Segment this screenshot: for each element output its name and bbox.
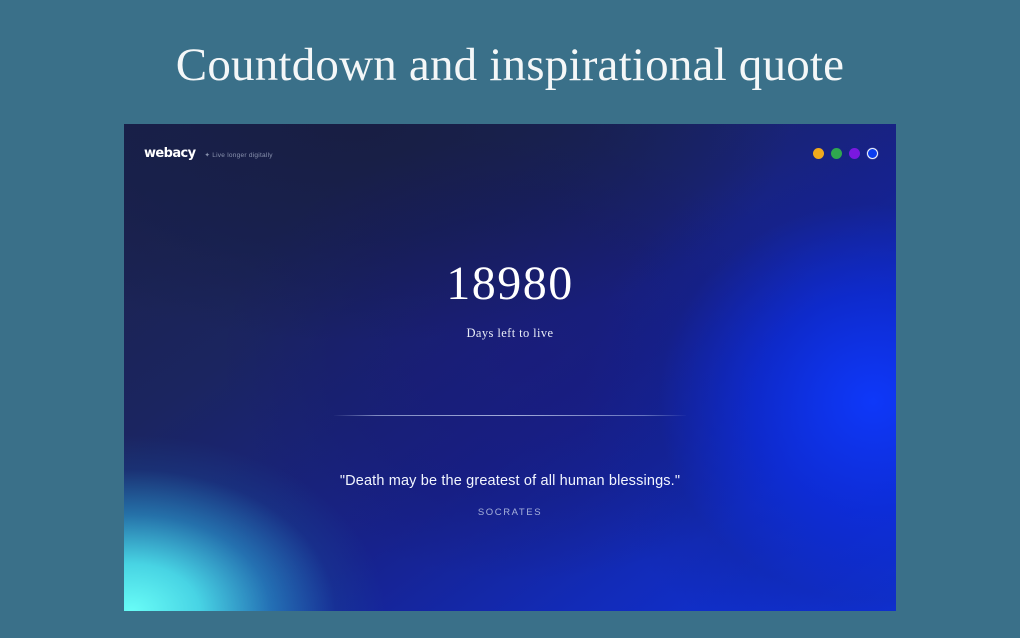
- theme-swatch-green[interactable]: [831, 148, 842, 159]
- brand-tagline: ✦ Live longer digitally: [205, 153, 273, 160]
- theme-swatch-blue[interactable]: [867, 148, 878, 159]
- page-title: Countdown and inspirational quote: [0, 38, 1020, 92]
- theme-swatch-purple[interactable]: [849, 148, 860, 159]
- countdown-content: 18980 Days left to live "Death may be th…: [124, 124, 896, 611]
- theme-swatch-group[interactable]: [813, 148, 878, 159]
- countdown-days-label: Days left to live: [467, 326, 554, 341]
- theme-swatch-amber[interactable]: [813, 148, 824, 159]
- quote-author: SOCRATES: [478, 507, 542, 518]
- brand-lockup[interactable]: webacy ✦ Live longer digitally: [144, 147, 273, 160]
- webacy-logo[interactable]: webacy: [144, 147, 196, 160]
- app-window: webacy ✦ Live longer digitally 18980 Day…: [124, 124, 896, 611]
- countdown-days-value: 18980: [446, 260, 574, 308]
- section-divider: [334, 415, 686, 416]
- quote-text: "Death may be the greatest of all human …: [340, 473, 680, 489]
- app-topbar: webacy ✦ Live longer digitally: [124, 124, 896, 182]
